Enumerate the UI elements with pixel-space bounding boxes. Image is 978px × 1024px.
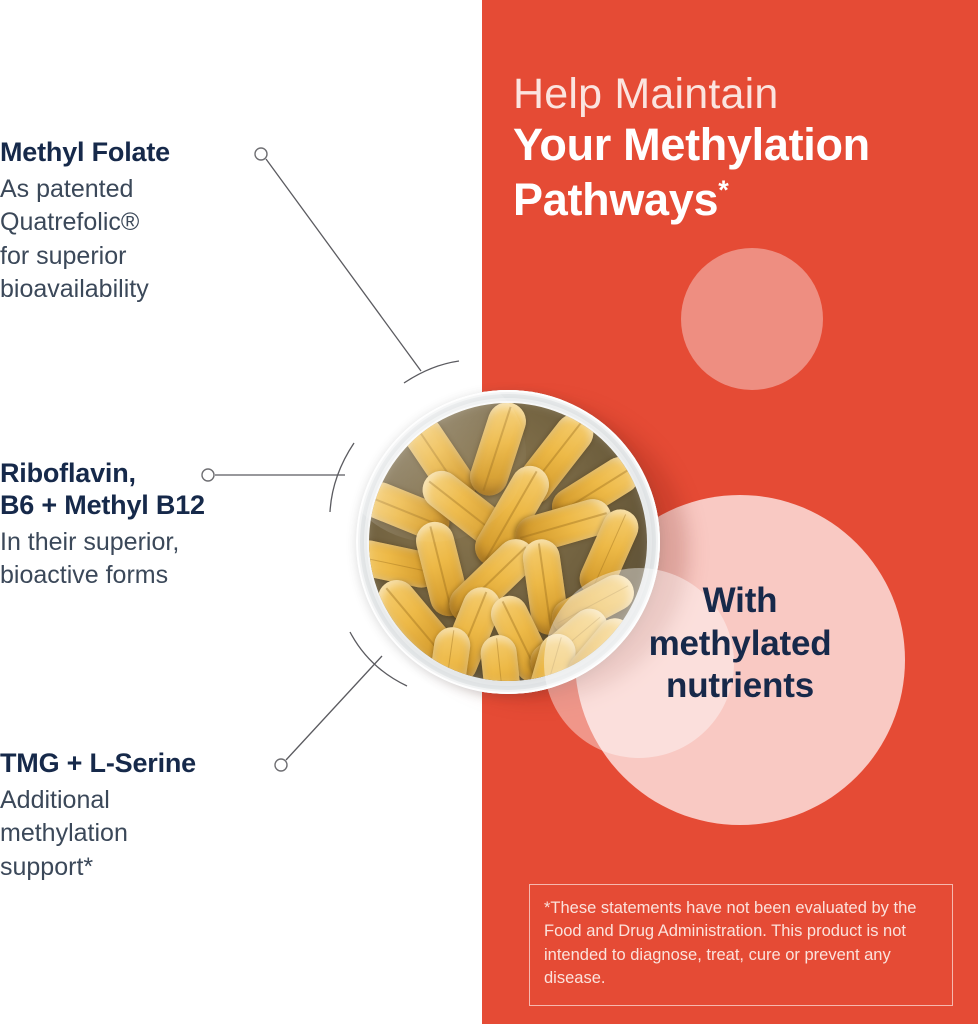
feature-body-line: support*: [0, 853, 93, 881]
infographic-canvas: Help Maintain Your Methylation Pathways*: [0, 0, 978, 1024]
feature-title: TMG + L-Serine: [0, 748, 196, 780]
headline-line-3: Pathways*: [513, 173, 973, 228]
headline-line-1: Help Maintain: [513, 70, 973, 118]
pink-circle-caption: With methylated nutrients: [595, 580, 885, 708]
feature-body-line: In their superior,: [0, 528, 179, 556]
feature-block-riboflavin-b6-b12: Riboflavin, B6 + Methyl B12 In their sup…: [0, 458, 205, 593]
feature-title-line: B6 + Methyl B12: [0, 490, 205, 520]
feature-body-line: methylation: [0, 819, 128, 847]
feature-body-line: for superior: [0, 242, 126, 270]
headline-block: Help Maintain Your Methylation Pathways*: [513, 70, 973, 228]
feature-body: As patented Quatrefolic® for superior bi…: [0, 173, 170, 307]
fda-disclaimer-text: *These statements have not been evaluate…: [544, 899, 916, 987]
feature-title-line: Riboflavin,: [0, 458, 136, 488]
decorative-salmon-circle: [681, 248, 823, 390]
feature-body-line: Quatrefolic®: [0, 208, 139, 236]
headline-line-2: Your Methylation: [513, 118, 973, 173]
caption-line-2: methylated: [595, 623, 885, 666]
fda-disclaimer-box: *These statements have not been evaluate…: [529, 884, 953, 1006]
feature-title: Riboflavin, B6 + Methyl B12: [0, 458, 205, 522]
feature-block-methyl-folate: Methyl Folate As patented Quatrefolic® f…: [0, 137, 170, 307]
caption-line-3: nutrients: [595, 665, 885, 708]
feature-body: Additional methylation support*: [0, 784, 196, 885]
feature-block-tmg-l-serine: TMG + L-Serine Additional methylation su…: [0, 748, 196, 884]
feature-title: Methyl Folate: [0, 137, 170, 169]
feature-body-line: bioavailability: [0, 275, 149, 303]
feature-body-line: bioactive forms: [0, 561, 168, 589]
feature-body-line: Additional: [0, 786, 110, 814]
headline-line-3-text: Pathways: [513, 174, 718, 225]
caption-line-1: With: [595, 580, 885, 623]
feature-body: In their superior, bioactive forms: [0, 526, 205, 593]
feature-body-line: As patented: [0, 175, 133, 203]
headline-footnote-marker: *: [718, 175, 728, 205]
